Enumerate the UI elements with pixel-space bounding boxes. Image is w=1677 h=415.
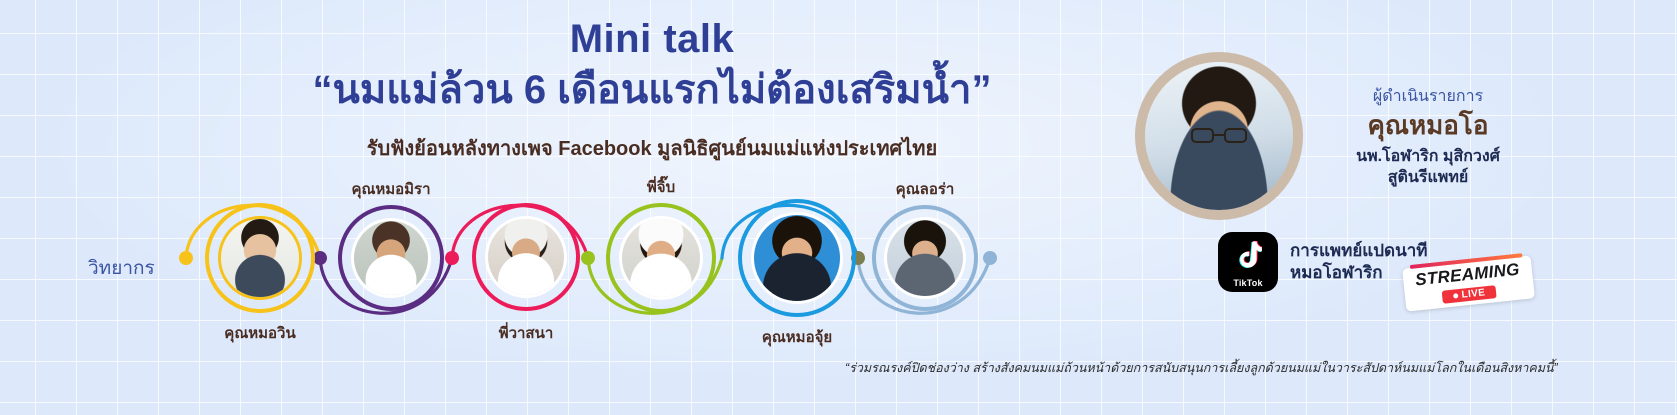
live-dot-icon — [1453, 293, 1458, 298]
speaker-ring — [872, 205, 978, 311]
speakers-section: วิทยากร คุณหมอวิน — [0, 175, 1060, 350]
connector-dot — [581, 251, 595, 265]
footer-caption: “ร่วมรณรงค์ปิดช่องว่าง สร้างสังคมนมแม่ถ้… — [845, 358, 1558, 378]
headline-description: รับฟังย้อนหลังทางเพจ Facebook มูลนิธิศูน… — [252, 132, 1052, 164]
speaker-name: คุณหมอวิน — [150, 321, 370, 345]
speaker-avatar — [351, 218, 431, 298]
speaker-ring — [338, 205, 444, 311]
speaker-name: คุณลอร่า — [815, 177, 1035, 201]
speaker-name: พี่วาสนา — [416, 321, 636, 345]
speaker-ring — [738, 199, 856, 317]
tiktok-icon[interactable]: TikTok — [1218, 232, 1278, 292]
host-role: ผู้ดำเนินรายการ — [1323, 84, 1533, 109]
streaming-label: STREAMING — [1414, 260, 1520, 291]
speaker-avatar — [751, 212, 843, 304]
tiktok-label: TikTok — [1218, 278, 1278, 288]
host-credential-line1: นพ.โอฬาริก มุสิกวงศ์ — [1323, 146, 1533, 168]
channel-text-line1: การแพทย์แปดนาที — [1290, 240, 1427, 262]
connector-dot — [445, 251, 459, 265]
speaker-ring — [606, 203, 716, 313]
host-name: คุณหมอโอ — [1323, 111, 1533, 140]
speaker-ring — [472, 203, 580, 311]
host-info: ผู้ดำเนินรายการ คุณหมอโอ นพ.โอฬาริก มุสิ… — [1323, 84, 1533, 189]
speaker-ring — [205, 203, 315, 313]
speaker-avatar — [884, 217, 966, 299]
live-label: LIVE — [1461, 287, 1486, 300]
headline-block: Mini talk “นมแม่ล้วน 6 เดือนแรกไม่ต้องเส… — [252, 18, 1052, 164]
tiktok-note-glyph — [1234, 240, 1262, 272]
speaker-avatar — [619, 216, 703, 300]
banner-root: Mini talk “นมแม่ล้วน 6 เดือนแรกไม่ต้องเส… — [0, 0, 1677, 415]
speaker-name: พี่จิ๊บ — [551, 175, 771, 199]
speaker-name: คุณหมอมิรา — [281, 177, 501, 201]
speaker-avatar — [485, 216, 567, 298]
page-subtitle-quote: “นมแม่ล้วน 6 เดือนแรกไม่ต้องเสริมน้ำ” — [252, 64, 1052, 116]
streaming-badge: STREAMING LIVE — [1402, 255, 1534, 311]
speaker-name: คุณหมอจุ้ย — [687, 325, 907, 349]
host-avatar — [1135, 52, 1303, 220]
channel-section[interactable]: TikTok การแพทย์แปดนาที หมอโอฬาริก — [1218, 232, 1427, 292]
live-badge: LIVE — [1442, 285, 1497, 304]
page-title: Mini talk — [252, 18, 1052, 60]
speaker-avatar — [218, 216, 302, 300]
host-credential-line2: สูตินรีแพทย์ — [1323, 167, 1533, 189]
connector-dot — [983, 251, 997, 265]
connector-dot — [313, 251, 327, 265]
connector-dot — [179, 251, 193, 265]
